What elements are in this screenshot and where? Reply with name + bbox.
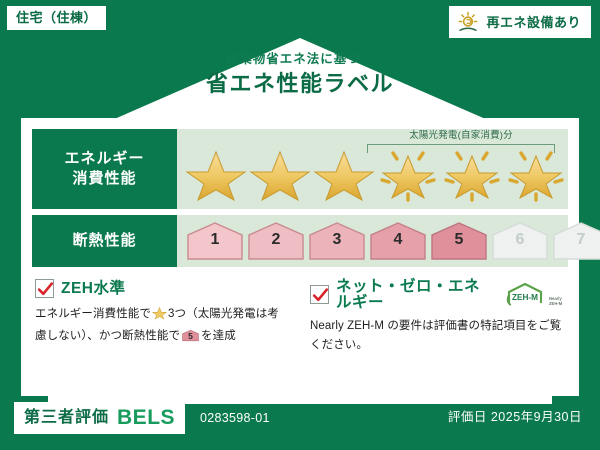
housing-type-tag: 住宅（住棟）: [7, 6, 106, 30]
star-filled-solar: [441, 144, 503, 202]
renewable-badge-label: 再エネ設備あり: [486, 16, 581, 29]
insulation-performance-row: 断熱性能 1 2: [32, 215, 568, 267]
insulation-level-chip: 4: [369, 221, 427, 261]
insulation-level-number: 1: [186, 232, 244, 248]
energy-performance-row: エネルギー 消費性能 太陽光発電(自家消費)分: [32, 129, 568, 209]
title-subtitle: 建築物省エネ法に基づく: [0, 52, 600, 67]
zeh-standard-header: ZEH水準: [35, 279, 286, 298]
insulation-label-line1: 断熱性能: [72, 231, 136, 251]
insulation-performance-label: 断熱性能: [32, 215, 177, 267]
star-filled-solar: [377, 144, 439, 202]
insulation-level-chip: 2: [247, 221, 305, 261]
zeh-standard-block: ZEH水準 エネルギー消費性能で3つ（太陽光発電は考慮しない）、かつ断熱性能で5…: [35, 279, 300, 354]
zeh-m-logo-text: ZEH-M: [512, 293, 538, 302]
check-icon: [311, 286, 330, 305]
energy-label-line2: 消費性能: [72, 169, 136, 189]
solar-annotation-text: 太陽光発電(自家消費)分: [363, 131, 559, 141]
net-zero-energy-block: ネット・ゼロ・エネルギー ZEH-M Nearly ZEH-M Nearl: [300, 279, 565, 354]
net-zero-body: Nearly ZEH-M の要件は評価書の特記項目をご覧ください。: [310, 317, 565, 354]
star-filled: [313, 144, 375, 202]
energy-label-card: 住宅（住棟） 再エネ設備あり 建築物省エネ法に基づく 省エネ性能ラベル エネルギ…: [0, 0, 600, 450]
zeh-standard-checkbox: [35, 279, 54, 298]
net-zero-checkbox: [310, 285, 329, 304]
insulation-level-chip: 3: [308, 221, 366, 261]
bels-certificate-number: 0283598-01: [200, 412, 270, 425]
net-zero-header: ネット・ゼロ・エネルギー ZEH-M Nearly ZEH-M: [310, 279, 565, 310]
energy-performance-label: エネルギー 消費性能: [32, 129, 177, 209]
bels-evaluation-box: 第三者評価 BELS: [14, 402, 185, 434]
renewable-equipment-badge: 再エネ設備あり: [449, 6, 591, 38]
insulation-level-number: 6: [491, 232, 549, 248]
insulation-level-scale: 1 2 3: [177, 215, 600, 267]
zeh-body-part3: を達成: [201, 330, 236, 342]
zeh-m-house-icon: ZEH-M: [505, 281, 549, 308]
insulation-level-number: 5: [430, 232, 488, 248]
bels-jp-label: 第三者評価: [24, 410, 109, 426]
insulation-level-chip-inactive: 7: [552, 221, 600, 261]
star-row: [177, 144, 567, 202]
inline-star-icon: [152, 305, 167, 327]
label-footer: 第三者評価 BELS 0283598-01 評価日 2025年9月30日: [0, 396, 600, 450]
star-filled: [249, 144, 311, 202]
zeh-standard-body: エネルギー消費性能で3つ（太陽光発電は考慮しない）、かつ断熱性能で5を達成: [35, 305, 286, 345]
zeh-standard-title: ZEH水準: [61, 281, 126, 297]
energy-star-rating: 太陽光発電(自家消費)分: [177, 129, 568, 209]
title-block: 建築物省エネ法に基づく 省エネ性能ラベル: [0, 52, 600, 97]
star-filled: [185, 144, 247, 202]
insulation-level-number: 2: [247, 232, 305, 248]
insulation-level-number: 3: [308, 232, 366, 248]
insulation-level-number: 4: [369, 232, 427, 248]
insulation-level-number: 7: [552, 232, 600, 248]
insulation-chip-row: 1 2 3: [177, 221, 600, 261]
bels-en-label: BELS: [117, 407, 175, 428]
insulation-level-chip-inactive: 6: [491, 221, 549, 261]
label-body-panel: エネルギー 消費性能 太陽光発電(自家消費)分: [21, 118, 579, 396]
inline-insulation-chip: 5: [182, 328, 199, 343]
certification-statements: ZEH水準 エネルギー消費性能で3つ（太陽光発電は考慮しない）、かつ断熱性能で5…: [32, 279, 568, 354]
zeh-m-logo: ZEH-M Nearly ZEH-M: [505, 281, 565, 308]
insulation-level-chip: 1: [186, 221, 244, 261]
title-main: 省エネ性能ラベル: [0, 71, 600, 97]
nearly-zeh-m-sublabel: Nearly ZEH-M: [549, 294, 565, 308]
insulation-level-chip: 5: [430, 221, 488, 261]
solar-sun-icon: [456, 10, 480, 34]
inline-chip-number: 5: [182, 332, 199, 341]
net-zero-title: ネット・ゼロ・エネルギー: [336, 279, 493, 310]
zeh-body-part1: エネルギー消費性能で: [35, 308, 151, 320]
svg-text:ZEH-M: ZEH-M: [549, 301, 563, 306]
energy-label-line1: エネルギー: [64, 149, 144, 169]
check-icon: [36, 280, 55, 299]
star-filled-solar: [505, 144, 567, 202]
evaluation-date: 評価日 2025年9月30日: [448, 411, 582, 424]
